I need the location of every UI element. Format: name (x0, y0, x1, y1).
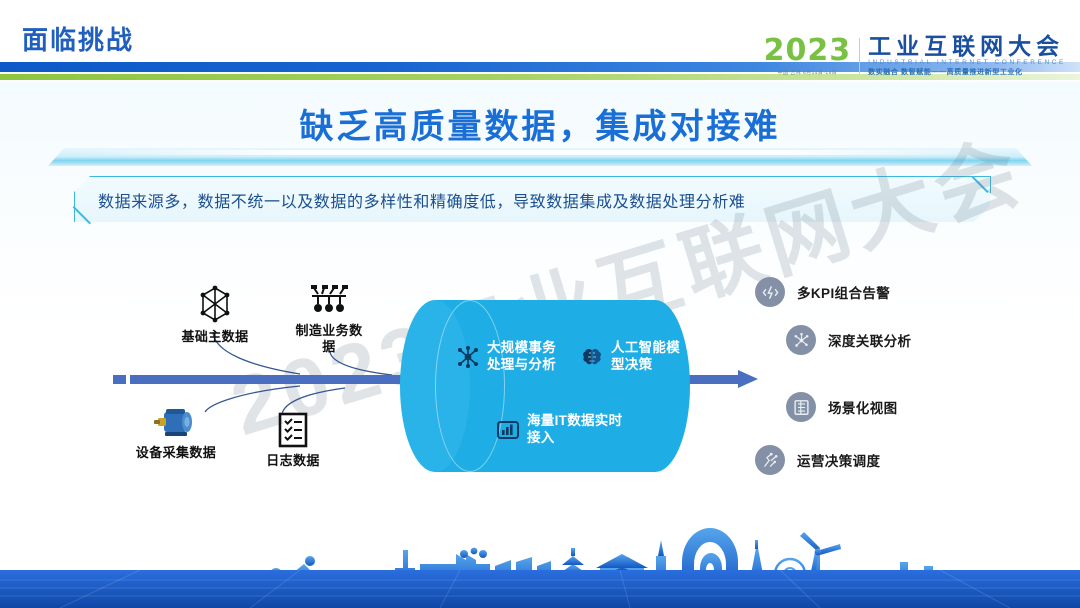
source-label: 设备采集数据 (108, 445, 244, 461)
logo-divider (859, 38, 860, 74)
capability-icon-badge (755, 445, 785, 475)
capability-operation-decision-scheduling[interactable]: 运营决策调度 (755, 445, 880, 475)
source-label: 制造业务数据 (290, 323, 368, 354)
cube-node-icon (198, 284, 232, 324)
capability-label: 运营决策调度 (797, 450, 880, 470)
capability-multi-kpi-alert[interactable]: 多KPI组合告警 (755, 277, 890, 307)
flow-arrow-tail-notch (126, 375, 130, 384)
slide: 面临挑战 2023 中国·吉林 8月14日-15日 工业互联网大会 INDUST… (0, 0, 1080, 608)
logo-year-block: 2023 中国·吉林 8月14日-15日 (764, 36, 852, 76)
skyline-illustration (0, 518, 1080, 608)
capability-label: 场景化视图 (828, 397, 898, 417)
production-line-icon (308, 284, 350, 318)
capability-icon-badge (786, 392, 816, 422)
platform-item-label: 大规模事务处理与分析 (487, 340, 568, 374)
checklist-icon (277, 412, 309, 448)
brain-icon (580, 345, 604, 369)
flow-arrow-head (738, 370, 758, 388)
decision-flow-icon (762, 452, 779, 469)
capability-label: 深度关联分析 (828, 330, 911, 350)
source-node-basic-master-data[interactable]: 基础主数据 (160, 284, 270, 345)
subtitle-text: 数据来源多，数据不统一以及数据的多样性和精确度低，导致数据集成及数据处理分析难 (98, 188, 745, 212)
capability-icon-badge (786, 325, 816, 355)
logo-name-en: INDUSTRIAL INTERNET CONFERENCE (868, 58, 1066, 68)
network-star-icon (793, 332, 810, 349)
cylinder-seam (435, 300, 505, 472)
platform-item-label: 人工智能模型决策 (611, 340, 690, 374)
source-node-log-data[interactable]: 日志数据 (250, 412, 336, 469)
alert-signal-icon (762, 284, 779, 301)
platform-item-realtime-it-data-ingest[interactable]: 海量IT数据实时接入 (496, 413, 636, 447)
logo-name-cn: 工业互联网大会 (868, 34, 1066, 58)
footer-skyline (0, 518, 1080, 608)
capability-label: 多KPI组合告警 (797, 282, 890, 302)
data-platform-cylinder: 大规模事务处理与分析 人工智能模型决策 海量IT数据实时接入 (400, 300, 690, 472)
capability-icon-badge (755, 277, 785, 307)
source-label: 基础主数据 (160, 329, 270, 345)
source-label: 日志数据 (250, 453, 336, 469)
source-node-manufacturing-data[interactable]: 制造业务数据 (290, 284, 368, 354)
source-node-device-collected-data[interactable]: 设备采集数据 (108, 406, 244, 461)
page-title: 缺乏高质量数据，集成对接难 (0, 99, 1080, 148)
grid-view-icon (793, 399, 810, 416)
logo-tagline: 数实融合 数智赋能——高质量推进新型工业化 (868, 68, 1066, 79)
capability-deep-correlation-analysis[interactable]: 深度关联分析 (786, 325, 911, 355)
subtitle-corner-top-right (974, 176, 991, 193)
capability-scenario-view[interactable]: 场景化视图 (786, 392, 898, 422)
bar-chart-icon (496, 418, 520, 442)
subtitle-corner-bottom-left (74, 206, 91, 223)
logo-year: 2023 (764, 36, 852, 66)
logo-date: 中国·吉林 8月14日-15日 (778, 69, 838, 75)
motor-icon (153, 406, 199, 440)
platform-item-label: 海量IT数据实时接入 (527, 413, 636, 447)
platform-item-transaction-processing[interactable]: 大规模事务处理与分析 (456, 340, 568, 374)
logo-name-block: 工业互联网大会 INDUSTRIAL INTERNET CONFERENCE 数… (868, 34, 1066, 78)
title-underline-highlight (60, 150, 1020, 155)
platform-item-ai-model-decision[interactable]: 人工智能模型决策 (580, 340, 690, 374)
section-title: 面临挑战 (22, 20, 134, 57)
conference-logo: 2023 中国·吉林 8月14日-15日 工业互联网大会 INDUSTRIAL … (764, 34, 1066, 78)
molecule-icon (456, 345, 480, 369)
